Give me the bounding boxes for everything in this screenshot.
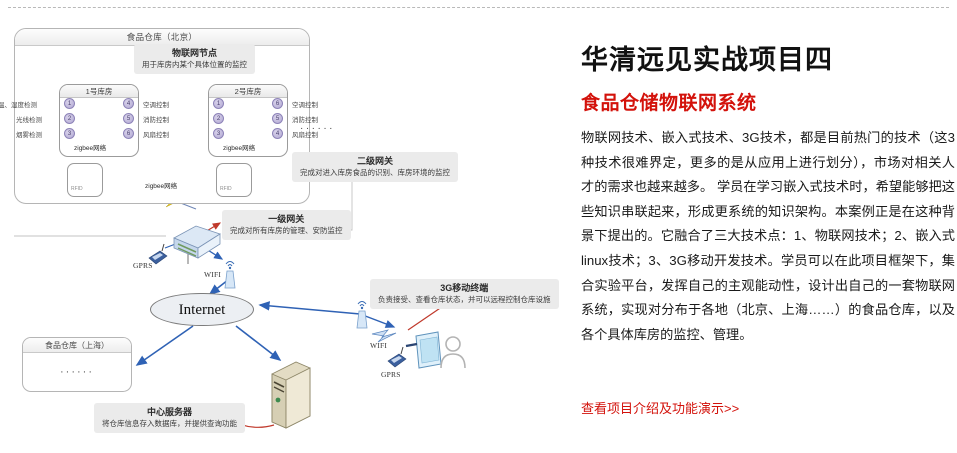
room-1-node-4: 4 xyxy=(123,98,134,109)
architecture-diagram: 食品仓库（北京） ······ 1号库房 1 2 3 4 5 6 zigbee网… xyxy=(0,0,568,453)
callout-iot-node: 物联网节点 用于库房内某个具体位置的监控 xyxy=(134,44,255,74)
room-2-node-2: 2 xyxy=(213,113,224,124)
warehouse-shanghai-dots: ······ xyxy=(23,353,131,391)
room-1-node-6: 6 xyxy=(123,128,134,139)
warehouse-shanghai-container: 食品仓库（上海） ······ xyxy=(22,337,132,392)
callout-gateway-level2-title: 二级网关 xyxy=(300,155,450,167)
room-2-node-3: 3 xyxy=(213,128,224,139)
room-1-node-5: 5 xyxy=(123,113,134,124)
callout-center-server-sub: 将仓库信息存入数据库，并提供查询功能 xyxy=(102,418,237,429)
callout-mobile-3g-sub: 负责接受、查看仓库状态，并可以远程控制仓库设施 xyxy=(378,294,551,305)
wifi-label-left: WIFI xyxy=(204,270,221,279)
room-1-sensor-2-label: 光线检测 xyxy=(16,114,42,124)
rfid-caption-2: RFID xyxy=(220,186,232,192)
gprs-label-left: GPRS xyxy=(133,261,153,270)
callout-gateway-level1-title: 一级网关 xyxy=(230,213,343,225)
page-title: 华清远见实战项目四 xyxy=(581,38,833,77)
room-2-actuator-1-label: 空调控制 xyxy=(292,99,318,109)
room-2-actuator-3-label: 风扇控制 xyxy=(292,129,318,139)
callout-gateway-level2-sub: 完成对进入库房食品的识别、库房环境的监控 xyxy=(300,167,450,178)
room-2-node-1: 1 xyxy=(213,98,224,109)
room-1-actuator-3-label: 风扇控制 xyxy=(143,129,169,139)
room-2-actuator-2-label: 消防控制 xyxy=(292,114,318,124)
article-body: 物联网技术、嵌入式技术、3G技术，都是目前热门的技术（这3种技术很难界定，更多的… xyxy=(581,126,955,347)
callout-gateway-level2: 二级网关 完成对进入库房食品的识别、库房环境的监控 xyxy=(292,152,458,182)
page-root: 食品仓库（北京） ······ 1号库房 1 2 3 4 5 6 zigbee网… xyxy=(0,0,957,453)
internet-cloud: Internet xyxy=(150,293,254,326)
room-1-node-3: 3 xyxy=(64,128,75,139)
wifi-label-right: WIFI xyxy=(370,341,387,350)
room-1-node-1: 1 xyxy=(64,98,75,109)
project-demo-link[interactable]: 查看项目介绍及功能演示>> xyxy=(581,398,739,417)
room-2-node-5: 5 xyxy=(272,113,283,124)
callout-mobile-3g: 3G移动终端 负责接受、查看仓库状态，并可以远程控制仓库设施 xyxy=(370,279,559,309)
room-2-title: 2号库房 xyxy=(209,85,287,98)
room-1-actuator-2-label: 消防控制 xyxy=(143,114,169,124)
callout-gateway-level1-sub: 完成对所有库房的管理、安防监控 xyxy=(230,225,343,236)
callout-center-server-title: 中心服务器 xyxy=(102,406,237,418)
room-2-zigbee-label: zigbee网络 xyxy=(223,142,255,152)
page-subtitle: 食品仓储物联网系统 xyxy=(581,88,757,115)
callout-mobile-3g-title: 3G移动终端 xyxy=(378,282,551,294)
callout-center-server: 中心服务器 将仓库信息存入数据库，并提供查询功能 xyxy=(94,403,245,433)
room-1-sensor-3-label: 烟雾检测 xyxy=(16,129,42,139)
room-1-actuator-1-label: 空调控制 xyxy=(143,99,169,109)
rfid-caption-1: RFID xyxy=(71,186,83,192)
article-pane: 华清远见实战项目四 食品仓储物联网系统 物联网技术、嵌入式技术、3G技术，都是目… xyxy=(578,0,957,453)
zigbee-network-label-mid: zigbee网络 xyxy=(145,180,177,190)
room-2-node-4: 4 xyxy=(272,128,283,139)
warehouse-shanghai-title: 食品仓库（上海） xyxy=(23,338,131,353)
callout-iot-node-sub: 用于库房内某个具体位置的监控 xyxy=(142,59,247,70)
room-2-node-6: 6 xyxy=(272,98,283,109)
room-1-sensor-1-label: 温、湿度检测 xyxy=(0,99,37,109)
callout-iot-node-title: 物联网节点 xyxy=(142,47,247,59)
room-1-zigbee-label: zigbee网络 xyxy=(74,142,106,152)
gprs-label-right: GPRS xyxy=(381,370,401,379)
room-1-title: 1号库房 xyxy=(60,85,138,98)
callout-gateway-level1: 一级网关 完成对所有库房的管理、安防监控 xyxy=(222,210,351,240)
room-1-node-2: 2 xyxy=(64,113,75,124)
